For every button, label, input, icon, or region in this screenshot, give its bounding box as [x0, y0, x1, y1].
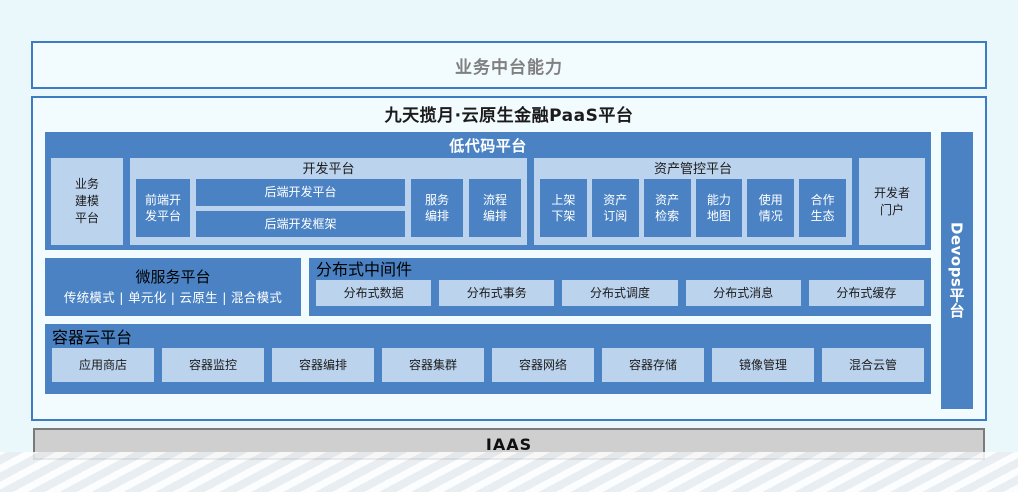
backend-dev-framework-tile[interactable]: 后端开发框架	[196, 211, 405, 238]
container-cloud-section: 容器云平台 应用商店 容器监控 容器编排 容器集群 容器网络 容器存储 镜像管理…	[45, 324, 931, 394]
iaas-bar: IAAS	[33, 428, 985, 460]
asset-tile-label: 资产检索	[655, 192, 679, 224]
container-cloud-tile[interactable]: 应用商店	[52, 348, 154, 382]
asset-tile-label: 使用情况	[759, 192, 783, 224]
paas-platform-title: 九天揽月·云原生金融PaaS平台	[33, 98, 985, 128]
architecture-diagram: 业务中台能力 九天揽月·云原生金融PaaS平台 低代码平台 业务建模平台 开发平…	[0, 0, 1018, 492]
capability-bar-title: 业务中台能力	[455, 53, 563, 78]
asset-tile-label: 能力地图	[707, 192, 731, 224]
lowcode-platform-title: 低代码平台	[51, 136, 925, 156]
developer-portal-tile[interactable]: 开发者门户	[859, 158, 925, 245]
asset-tile-label: 资产订阅	[603, 192, 627, 224]
distributed-middleware-section: 分布式中间件 分布式数据 分布式事务 分布式调度 分布式消息 分布式缓存	[309, 258, 931, 316]
asset-tile[interactable]: 使用情况	[747, 179, 794, 237]
container-cloud-tile[interactable]: 容器编排	[272, 348, 374, 382]
service-orchestration-label: 服务编排	[425, 192, 449, 224]
container-cloud-tile[interactable]: 镜像管理	[712, 348, 814, 382]
backend-dev-platform-label: 后端开发平台	[264, 184, 336, 200]
container-cloud-tile[interactable]: 容器存储	[602, 348, 704, 382]
frontend-dev-platform-label: 前端开发平台	[145, 192, 181, 224]
container-cloud-tile-label: 应用商店	[79, 357, 127, 374]
container-cloud-tile-label: 镜像管理	[739, 357, 787, 374]
capability-bar: 业务中台能力	[31, 41, 987, 89]
asset-tile-label: 上架下架	[551, 192, 575, 224]
middleware-row: 分布式数据 分布式事务 分布式调度 分布式消息 分布式缓存	[316, 280, 924, 306]
asset-control-row: 上架下架 资产订阅 资产检索 能力地图 使用情况 合作生态	[540, 179, 846, 237]
backend-dev-framework-label: 后端开发框架	[264, 216, 336, 232]
dev-platform-title: 开发平台	[136, 160, 521, 179]
backend-dev-platform-tile[interactable]: 后端开发平台	[196, 179, 405, 206]
lowcode-platform-section: 低代码平台 业务建模平台 开发平台 前端开发平台	[45, 132, 931, 250]
middleware-tile[interactable]: 分布式缓存	[809, 280, 924, 306]
lowcode-row: 业务建模平台 开发平台 前端开发平台 后端开发	[51, 158, 925, 245]
service-orchestration-tile[interactable]: 服务编排	[411, 179, 463, 237]
distributed-middleware-title: 分布式中间件	[316, 260, 924, 280]
devops-platform-label: Devops平台	[947, 222, 968, 318]
container-cloud-title: 容器云平台	[52, 327, 924, 348]
middleware-tile[interactable]: 分布式调度	[562, 280, 677, 306]
asset-tile[interactable]: 资产订阅	[592, 179, 639, 237]
frontend-dev-platform-tile[interactable]: 前端开发平台	[136, 179, 190, 237]
middleware-tile-label: 分布式事务	[467, 285, 527, 302]
dev-platform-row: 前端开发平台 后端开发平台 后端开发框架	[136, 179, 521, 237]
container-cloud-tile-label: 混合云管	[849, 357, 897, 374]
asset-tile[interactable]: 资产检索	[644, 179, 691, 237]
dev-platform-panel: 开发平台 前端开发平台 后端开发平台	[130, 158, 527, 245]
business-modeling-platform-tile[interactable]: 业务建模平台	[51, 158, 123, 245]
middleware-tile-label: 分布式数据	[344, 285, 404, 302]
container-cloud-tile-label: 容器监控	[189, 357, 237, 374]
container-cloud-tile[interactable]: 混合云管	[822, 348, 924, 382]
asset-control-title: 资产管控平台	[540, 160, 846, 179]
process-orchestration-tile[interactable]: 流程编排	[469, 179, 521, 237]
asset-control-panel: 资产管控平台 上架下架 资产订阅 资产检索 能力地图 使用情况 合作生态	[534, 158, 852, 245]
middleware-tile-label: 分布式缓存	[836, 285, 896, 302]
container-cloud-tile[interactable]: 容器监控	[162, 348, 264, 382]
asset-tile[interactable]: 能力地图	[696, 179, 743, 237]
container-cloud-tile[interactable]: 容器集群	[382, 348, 484, 382]
middleware-tile[interactable]: 分布式消息	[686, 280, 801, 306]
backend-stack: 后端开发平台 后端开发框架	[196, 179, 405, 237]
middleware-tile-label: 分布式调度	[590, 285, 650, 302]
business-modeling-platform-label: 业务建模平台	[75, 176, 99, 227]
container-cloud-tile-label: 容器集群	[409, 357, 457, 374]
container-cloud-row: 应用商店 容器监控 容器编排 容器集群 容器网络 容器存储 镜像管理 混合云管	[52, 348, 924, 382]
iaas-label: IAAS	[486, 435, 532, 454]
process-orchestration-label: 流程编排	[483, 192, 507, 224]
container-cloud-tile-label: 容器网络	[519, 357, 567, 374]
middleware-tile-label: 分布式消息	[713, 285, 773, 302]
microservice-platform-section: 微服务平台 传统模式 | 单元化 | 云原生 | 混合模式	[45, 258, 301, 316]
container-cloud-tile[interactable]: 容器网络	[492, 348, 594, 382]
paas-platform-frame: 九天揽月·云原生金融PaaS平台 低代码平台 业务建模平台 开发平台	[31, 96, 987, 421]
asset-tile-label: 合作生态	[811, 192, 835, 224]
paas-body: 低代码平台 业务建模平台 开发平台 前端开发平台	[45, 132, 973, 409]
paas-stack: 低代码平台 业务建模平台 开发平台 前端开发平台	[45, 132, 931, 409]
middleware-tile[interactable]: 分布式数据	[316, 280, 431, 306]
developer-portal-label: 开发者门户	[874, 185, 910, 219]
microservice-modes-label: 传统模式 | 单元化 | 云原生 | 混合模式	[64, 289, 282, 306]
middle-row: 微服务平台 传统模式 | 单元化 | 云原生 | 混合模式 分布式中间件 分布式…	[45, 258, 931, 316]
container-cloud-tile-label: 容器存储	[629, 357, 677, 374]
asset-tile[interactable]: 合作生态	[799, 179, 846, 237]
asset-tile[interactable]: 上架下架	[540, 179, 587, 237]
devops-platform-strip[interactable]: Devops平台	[941, 132, 973, 409]
container-cloud-tile-label: 容器编排	[299, 357, 347, 374]
middleware-tile[interactable]: 分布式事务	[439, 280, 554, 306]
microservice-platform-title: 微服务平台	[135, 268, 210, 287]
